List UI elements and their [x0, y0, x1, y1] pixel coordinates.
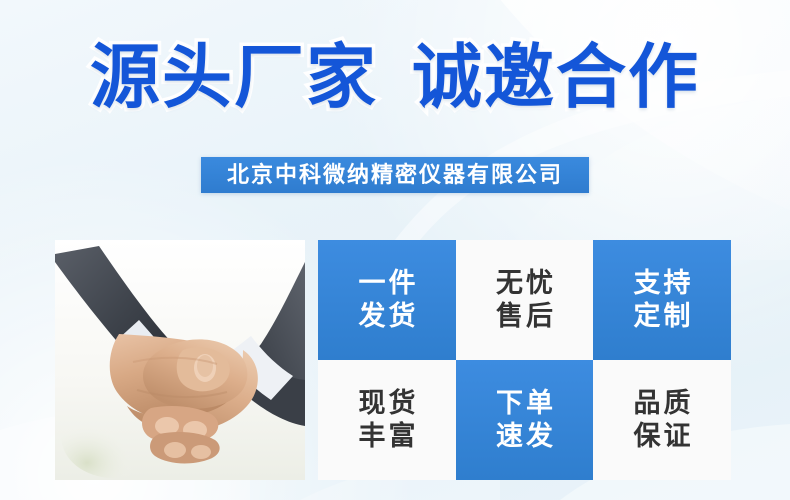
page-title: 源头厂家诚邀合作 [0, 36, 790, 118]
feature-line-2: 速发 [493, 420, 556, 453]
feature-cell-customization[interactable]: 支持 定制 [593, 240, 731, 360]
feature-cell-stock-abundant[interactable]: 现货 丰富 [318, 360, 456, 480]
handshake-photo [55, 240, 305, 480]
company-name-bar: 北京中科微纳精密仪器有限公司 [201, 157, 589, 193]
feature-line-2: 保证 [631, 420, 694, 453]
feature-line-2: 发货 [356, 300, 419, 333]
feature-cell-quality-guarantee[interactable]: 品质 保证 [593, 360, 731, 480]
feature-grid: 一件 发货 无忧 售后 支持 定制 现货 丰富 下单 速发 品质 保证 [318, 240, 745, 480]
feature-line-1: 支持 [631, 267, 694, 300]
feature-line-2: 丰富 [356, 420, 419, 453]
feature-cell-fast-dispatch[interactable]: 下单 速发 [456, 360, 593, 480]
headline-segment-2: 诚邀合作 [412, 38, 700, 116]
feature-line-1: 品质 [631, 387, 694, 420]
headline-segment-1: 源头厂家 [90, 38, 378, 116]
promo-banner: 源头厂家诚邀合作 北京中科微纳精密仪器有限公司 [0, 0, 790, 500]
subtitle-container: 北京中科微纳精密仪器有限公司 [0, 157, 790, 193]
feature-line-2: 定制 [631, 300, 694, 333]
feature-line-1: 现货 [356, 387, 419, 420]
feature-line-2: 售后 [493, 300, 556, 333]
feature-line-1: 下单 [493, 387, 556, 420]
feature-line-1: 无忧 [493, 267, 556, 300]
feature-cell-one-piece-shipping[interactable]: 一件 发货 [318, 240, 456, 360]
feature-line-1: 一件 [356, 267, 419, 300]
feature-cell-worry-free-service[interactable]: 无忧 售后 [456, 240, 593, 360]
